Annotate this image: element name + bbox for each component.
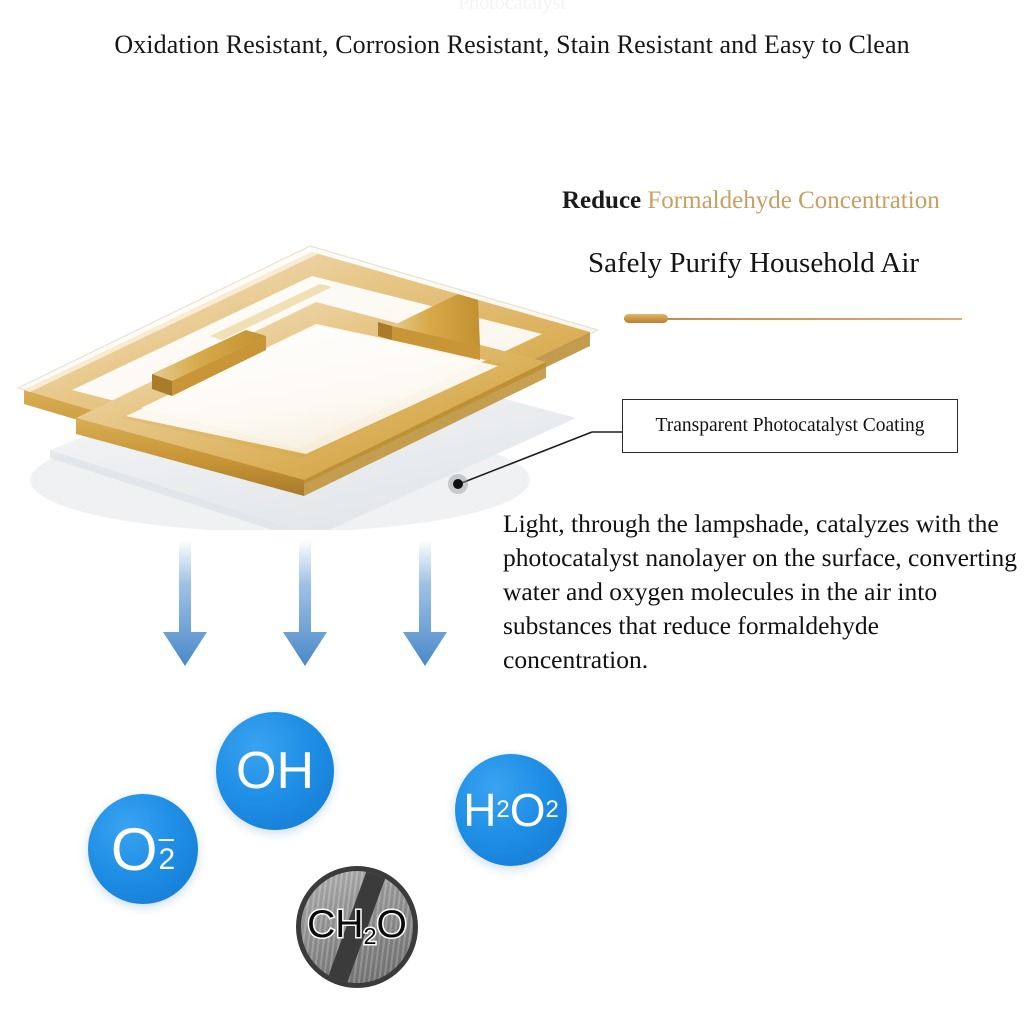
reduce-highlight: Formaldehyde Concentration [647,187,939,214]
molecule-subscript: 2 [363,924,376,950]
coating-point-marker [448,474,468,494]
molecule-formula: O [111,815,158,884]
gold-divider [624,314,962,324]
ceiling-lamp-svg [0,150,660,530]
reduce-prefix: Reduce [562,187,647,214]
molecule-hydrogen-peroxide: H2O2 [455,754,567,866]
purify-subtitle: Safely Purify Household Air [588,249,919,278]
molecule-subscript: 2 [496,796,509,824]
description-paragraph: Light, through the lampshade, catalyzes … [503,507,1018,677]
molecule-formula-post: O [377,903,407,946]
molecule-charge-stack: –2 [158,827,175,872]
molecule-formaldehyde-blocked: CH2O [296,866,418,988]
molecule-superoxide: O–2 [88,794,198,904]
infographic-canvas: Photocatalyst Oxidation Resistant, Corro… [0,0,1024,1024]
light-emission-arrow [283,540,327,666]
divider-stub [624,314,668,323]
molecule-subscript: 2 [158,848,175,871]
molecule-formula: H [463,783,496,837]
reduce-headline: Reduce Formaldehyde Concentration [562,188,940,213]
molecule-formula: OH [236,741,314,801]
page-headline: Oxidation Resistant, Corrosion Resistant… [0,30,1024,60]
molecule-formula-label: CH2O [307,903,407,950]
divider-hairline [624,318,962,320]
molecule-formula-pre: CH [307,903,363,946]
callout-transparent-coating: Transparent Photocatalyst Coating [622,399,958,453]
callout-label: Transparent Photocatalyst Coating [655,415,924,437]
molecule-formula-mid: O [510,783,546,837]
molecule-subscript: 2 [546,796,559,824]
molecule-hydroxyl: OH [216,712,334,830]
light-arrows-group [130,540,550,700]
product-illustration [0,150,660,530]
light-emission-arrow [403,540,447,666]
light-emission-arrow [163,540,207,666]
clipped-top-text: Photocatalyst [0,0,1024,15]
